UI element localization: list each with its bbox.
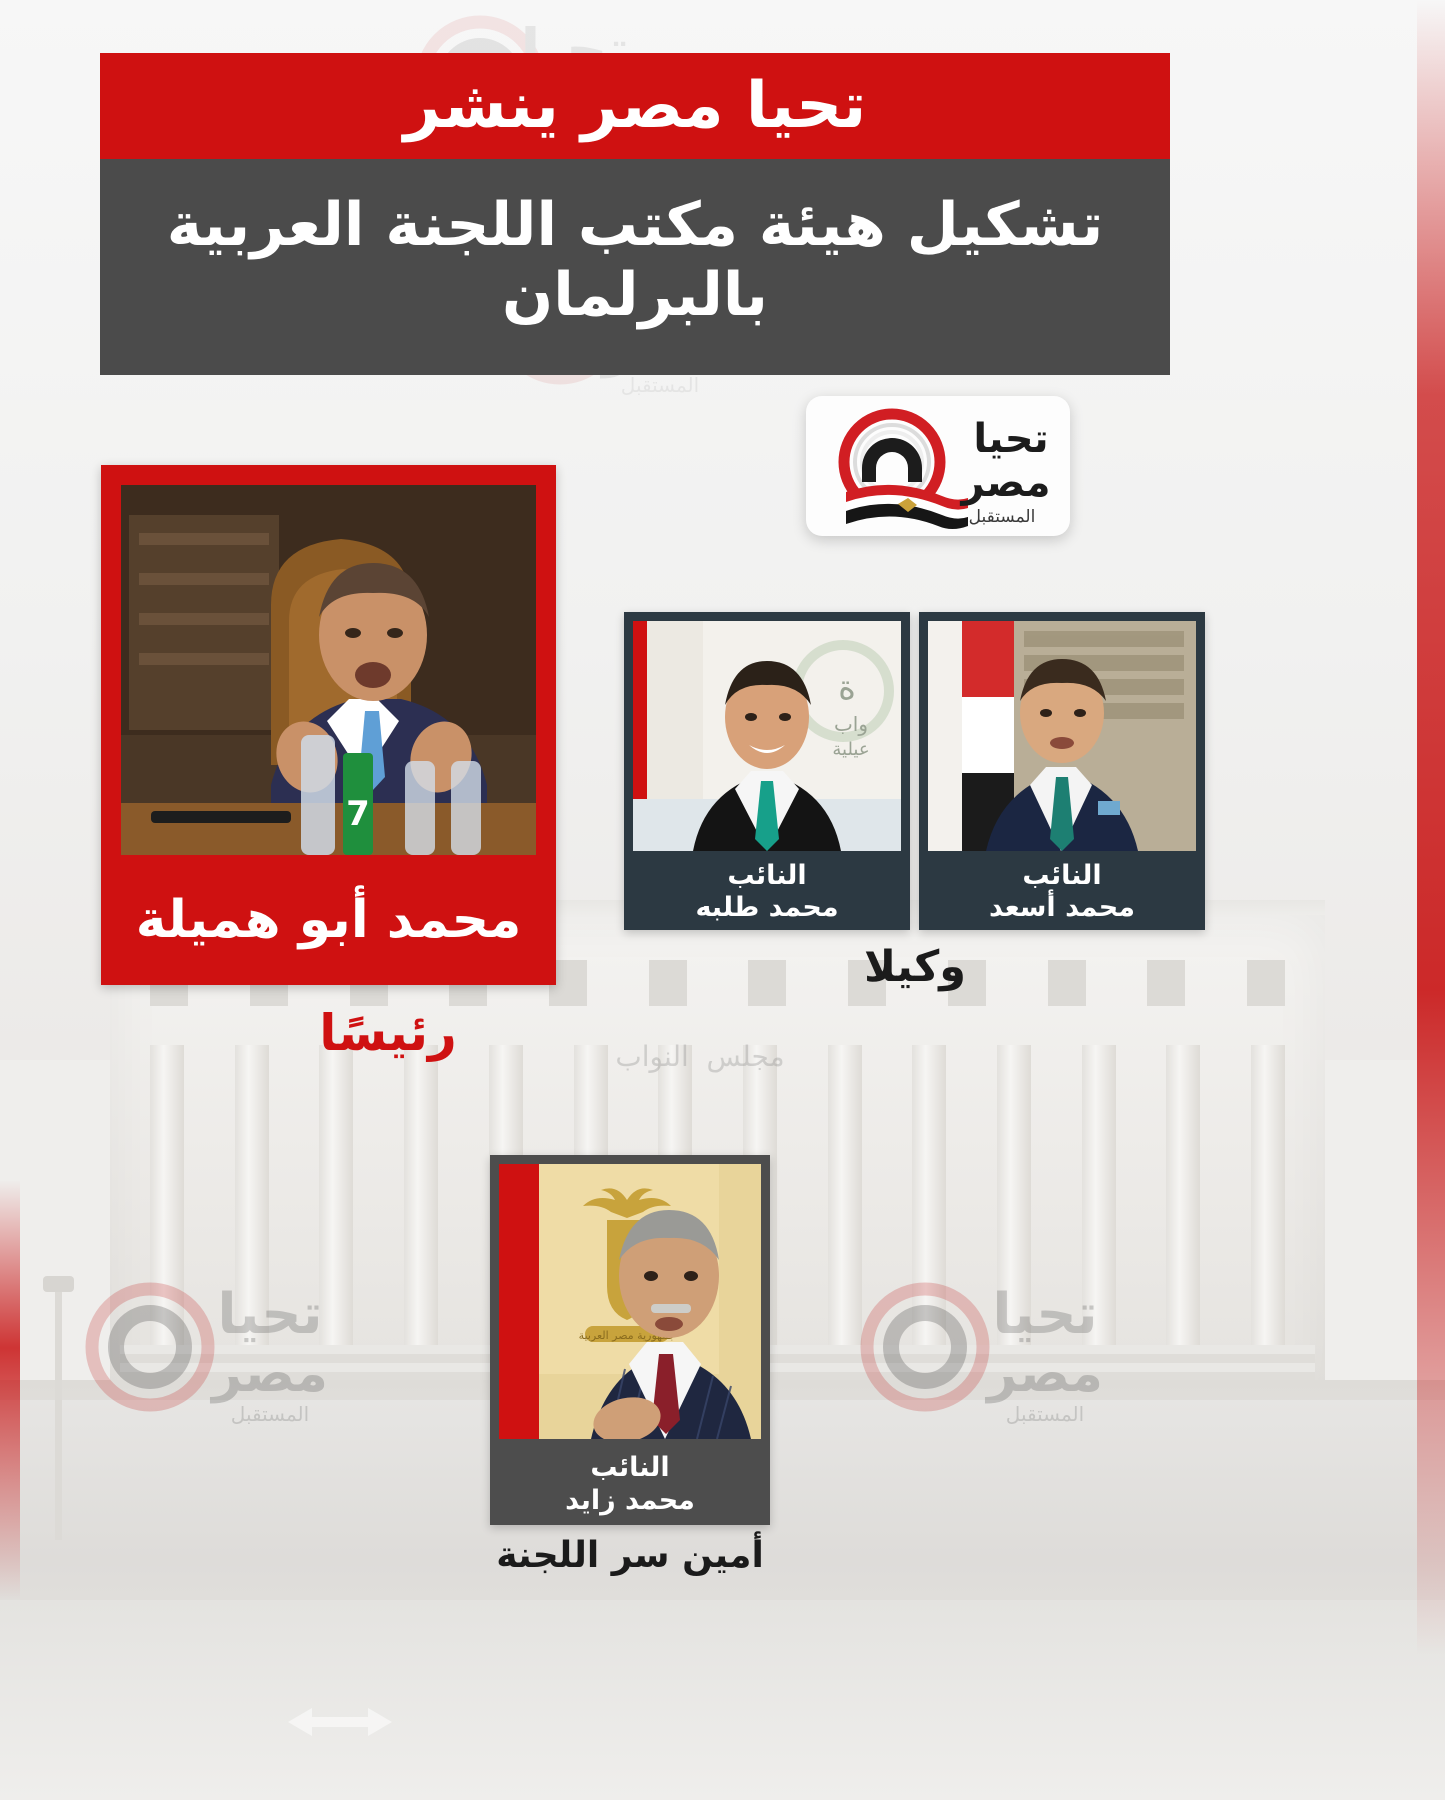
svg-text:تحيا: تحيا (973, 416, 1048, 462)
road (0, 1600, 1445, 1800)
header-title-text: تشكيل هيئة مكتب اللجنة العربية بالبرلمان (126, 191, 1144, 330)
deputy-1-photo: ة واب عيلية (633, 621, 901, 851)
secretary-card: جمهورية مصر العربية النائب محمد زايد (490, 1155, 770, 1525)
svg-text:المستقبل: المستقبل (969, 507, 1036, 527)
secretary-portrait-image: جمهورية مصر العربية (499, 1164, 761, 1439)
red-accent-left (0, 1180, 20, 1600)
secretary-role-text: أمين سر اللجنة (496, 1535, 764, 1576)
secretary-title: النائب (490, 1452, 770, 1484)
svg-text:ة: ة (838, 668, 856, 708)
secretary-caption: النائب محمد زايد (490, 1452, 770, 1517)
chairman-photo: 7 (121, 485, 536, 855)
header-kicker-text: تحيا مصر ينشر (404, 74, 866, 138)
chairman-card: 7 محمد أبو هميلة (101, 465, 556, 985)
deputy-1-title: النائب (624, 860, 910, 892)
svg-text:مصر: مصر (959, 460, 1050, 506)
svg-text:7: 7 (346, 794, 370, 834)
deputy-1-name: محمد طلبه (624, 892, 910, 924)
red-accent-right (1417, 0, 1445, 1800)
svg-text:عيلية: عيلية (832, 739, 869, 760)
deputies-role-text: وكيلا (864, 942, 966, 992)
deputy-card-1: ة واب عيلية النائب محمد طلبه (624, 612, 910, 930)
deputy-1-caption: النائب محمد طلبه (624, 860, 910, 924)
secretary-name: محمد زايد (490, 1485, 770, 1517)
svg-text:واب: واب (834, 712, 868, 736)
deputy-2-portrait-image (928, 621, 1196, 851)
header-title-bar: تشكيل هيئة مكتب اللجنة العربية بالبرلمان (100, 159, 1170, 375)
logo-mark-icon: تحيا مصر المستقبل (806, 396, 1070, 536)
road-arrow-marking (280, 1700, 400, 1744)
parliament-sign-text: مجلس النواب (520, 1040, 880, 1073)
chairman-portrait-image: 7 (121, 485, 536, 855)
deputy-2-name: محمد أسعد (919, 892, 1205, 924)
secretary-role-label: أمين سر اللجنة (480, 1535, 780, 1576)
deputy-2-photo (928, 621, 1196, 851)
chairman-name: محمد أبو هميلة (136, 890, 522, 950)
secretary-photo: جمهورية مصر العربية (499, 1164, 761, 1439)
tahya-misr-logo: تحيا مصر المستقبل (806, 396, 1070, 536)
deputy-2-caption: النائب محمد أسعد (919, 860, 1205, 924)
street-lamp (55, 1290, 62, 1540)
deputies-role-label: وكيلا (790, 942, 1040, 992)
poster-header: تحيا مصر ينشر تشكيل هيئة مكتب اللجنة الع… (100, 53, 1170, 375)
deputy-1-portrait-image: ة واب عيلية (633, 621, 901, 851)
chairman-role-text: رئيسًا (319, 1004, 457, 1062)
chairman-name-banner: محمد أبو هميلة (101, 865, 556, 975)
deputy-2-title: النائب (919, 860, 1205, 892)
deputy-card-2: النائب محمد أسعد (919, 612, 1205, 930)
chairman-role-label: رئيسًا (268, 1004, 508, 1062)
header-kicker-bar: تحيا مصر ينشر (100, 53, 1170, 159)
